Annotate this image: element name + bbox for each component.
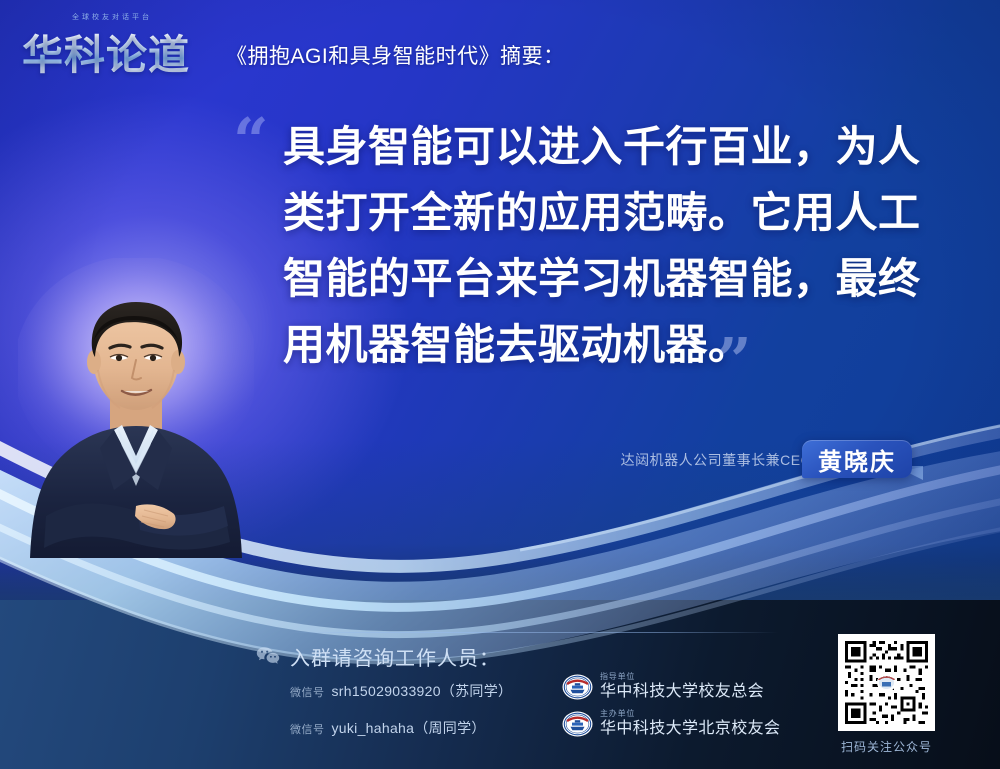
organization-name: 华中科技大学北京校友会: [600, 721, 780, 737]
quote-close-mark: ”: [716, 330, 749, 392]
quote-open-mark: “: [233, 110, 266, 172]
organization-kicker: 指导单位: [600, 673, 764, 681]
contact-value: yuki_hahaha（周同学）: [332, 720, 486, 736]
organization-row: 主办单位 华中科技大学北京校友会: [562, 710, 780, 737]
qr-code[interactable]: [838, 634, 935, 731]
speaker-role: 达闼机器人公司董事长兼CEO: [621, 450, 812, 470]
contact-row[interactable]: 微信号yuki_hahaha（周同学）: [290, 718, 486, 738]
footer-divider: [290, 632, 778, 633]
organization-kicker: 主办单位: [600, 710, 780, 718]
contact-value: srh15029033920（苏同学）: [332, 683, 513, 699]
university-seal-icon: [562, 711, 593, 737]
header: 全球校友对话平台 华科论道 《拥抱AGI和具身智能时代》摘要：: [0, 0, 1000, 92]
organization-row: 指导单位 华中科技大学校友总会: [562, 673, 764, 700]
brand-logo[interactable]: 全球校友对话平台 华科论道: [22, 12, 218, 74]
organization-name: 华中科技大学校友总会: [600, 684, 764, 700]
poster-root: 全球校友对话平台 华科论道 《拥抱AGI和具身智能时代》摘要：: [0, 0, 1000, 769]
university-seal-icon: [562, 674, 593, 700]
logo-wordmark: 华科论道: [22, 21, 190, 81]
qr-caption: 扫码关注公众号: [838, 738, 935, 755]
quote-text: 具身智能可以进入千行百业，为人类打开全新的应用范畴。它用人工智能的平台来学习机器…: [283, 114, 943, 378]
speaker-portrait: [18, 258, 254, 558]
page-title: 《拥抱AGI和具身智能时代》摘要：: [226, 40, 565, 70]
speaker-name-badge: 黄晓庆: [802, 440, 912, 478]
contact-label: 微信号: [290, 724, 325, 736]
contact-row[interactable]: 微信号srh15029033920（苏同学）: [290, 681, 512, 701]
contact-label: 微信号: [290, 687, 325, 699]
speaker-name: 黄晓庆: [818, 442, 896, 477]
wechat-icon: [256, 646, 280, 666]
join-group-title: 入群请咨询工作人员：: [290, 642, 500, 671]
